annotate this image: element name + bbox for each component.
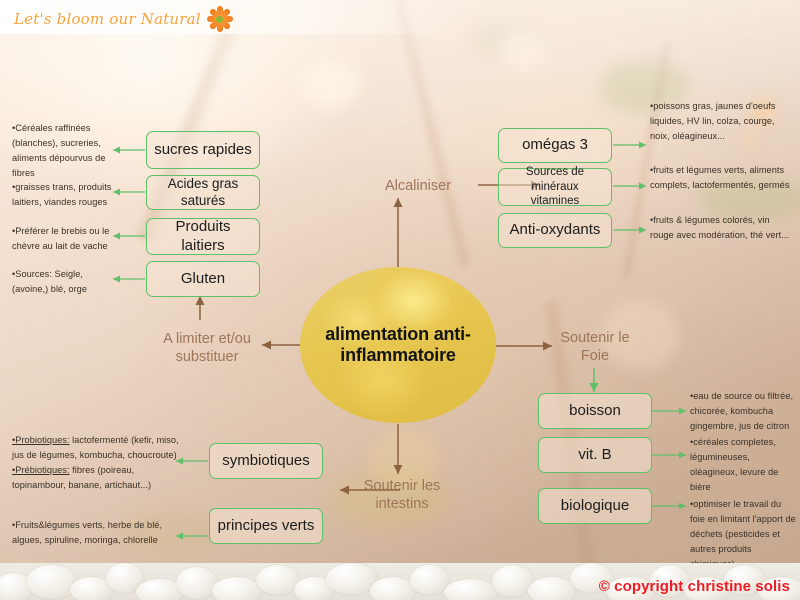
node-biologique-label: biologique — [561, 497, 629, 516]
central-hub-label: alimentation anti-inflammatoire — [300, 324, 496, 366]
node-produits-laitiers-label: Produits laitiers — [153, 218, 253, 256]
node-acides-gras-satures[interactable]: Acides gras saturés — [146, 175, 260, 210]
detail-biologique: •optimiser le travail du foie en limitan… — [690, 497, 798, 572]
branch-label-alcaliniser-text: Alcaliniser — [385, 178, 451, 194]
node-sources-mineraux-vitamines[interactable]: Sources de minéraux vitamines — [498, 168, 612, 206]
node-produits-laitiers[interactable]: Produits laitiers — [146, 218, 260, 255]
detail-symbiotiques: •Probiotiques: lactofermenté (kefir, mis… — [12, 433, 180, 493]
brand-text: Let's bloom our Natural — [14, 10, 201, 28]
infographic-canvas: alimentation anti-inflammatoire Alcalini… — [0, 0, 800, 600]
node-principes-verts-label: principes verts — [218, 517, 315, 536]
node-anti-oxydants-label: Anti-oxydants — [510, 221, 601, 240]
node-vit-b-label: vit. B — [578, 446, 611, 465]
central-hub: alimentation anti-inflammatoire — [300, 267, 496, 423]
detail-probiotiques-label: •Probiotiques: — [12, 435, 70, 445]
branch-label-intestins-line2: intestins — [352, 496, 452, 514]
brand: Let's bloom our Natural — [14, 6, 233, 32]
node-acides-gras-satures-label: Acides gras saturés — [153, 176, 253, 210]
branch-label-limiter: A limiter et/ou substituer — [142, 331, 272, 366]
branch-label-foie: Soutenir le Foie — [545, 330, 645, 365]
branch-label-alcaliniser: Alcaliniser — [358, 178, 478, 196]
branch-label-foie-line1: Soutenir le — [545, 330, 645, 348]
node-omegas-3-label: omégas 3 — [522, 136, 588, 155]
detail-principes-verts: •Fruits&légumes verts, herbe de blé, alg… — [12, 518, 180, 548]
node-gluten-label: Gluten — [181, 270, 225, 289]
node-boisson-label: boisson — [569, 402, 621, 421]
node-sources-mineraux-line2: vitamines — [531, 194, 580, 208]
detail-acides-gras-satures: •graisses trans, produits laitiers, vian… — [12, 180, 116, 210]
node-sucres-rapides[interactable]: sucres rapides — [146, 131, 260, 169]
detail-boisson: •eau de source ou filtrée, chicorée, kom… — [690, 389, 798, 434]
node-sources-mineraux-line1: Sources de minéraux — [505, 165, 605, 194]
node-symbiotiques-label: symbiotiques — [222, 452, 310, 471]
node-gluten[interactable]: Gluten — [146, 261, 260, 297]
node-anti-oxydants[interactable]: Anti-oxydants — [498, 213, 612, 248]
node-vit-b[interactable]: vit. B — [538, 437, 652, 473]
branch-label-foie-line2: Foie — [545, 348, 645, 366]
flower-icon — [207, 6, 233, 32]
branch-label-limiter-line2: substituer — [142, 349, 272, 367]
detail-sources-mineraux: •fruits et légumes verts, aliments compl… — [650, 163, 790, 193]
copyright-text: © copyright christine solis — [599, 578, 790, 595]
detail-anti-oxydants: •fruits & légumes colorés, vin rouge ave… — [650, 213, 790, 243]
node-biologique[interactable]: biologique — [538, 488, 652, 524]
detail-sucres-rapides: •Céréales raffinées (blanches), sucrerie… — [12, 121, 116, 181]
detail-omegas-3: •poissons gras, jaunes d'oeufs liquides,… — [650, 99, 790, 144]
node-sucres-rapides-label: sucres rapides — [154, 141, 252, 160]
detail-vit-b: •céréales completes, légumineuses, oléag… — [690, 435, 798, 495]
branch-label-intestins-line1: Soutenir les — [352, 478, 452, 496]
branch-label-limiter-line1: A limiter et/ou — [142, 331, 272, 349]
node-principes-verts[interactable]: principes verts — [209, 508, 323, 544]
node-omegas-3[interactable]: omégas 3 — [498, 128, 612, 163]
branch-label-intestins: Soutenir les intestins — [352, 478, 452, 513]
node-boisson[interactable]: boisson — [538, 393, 652, 429]
detail-produits-laitiers: •Préférer le brebis ou le chèvre au lait… — [12, 224, 116, 254]
detail-gluten: •Sources: Seigle, (avoine,) blé, orge — [12, 267, 116, 297]
node-symbiotiques[interactable]: symbiotiques — [209, 443, 323, 479]
detail-prebiotiques-label: •Prébiotiques: — [12, 465, 70, 475]
